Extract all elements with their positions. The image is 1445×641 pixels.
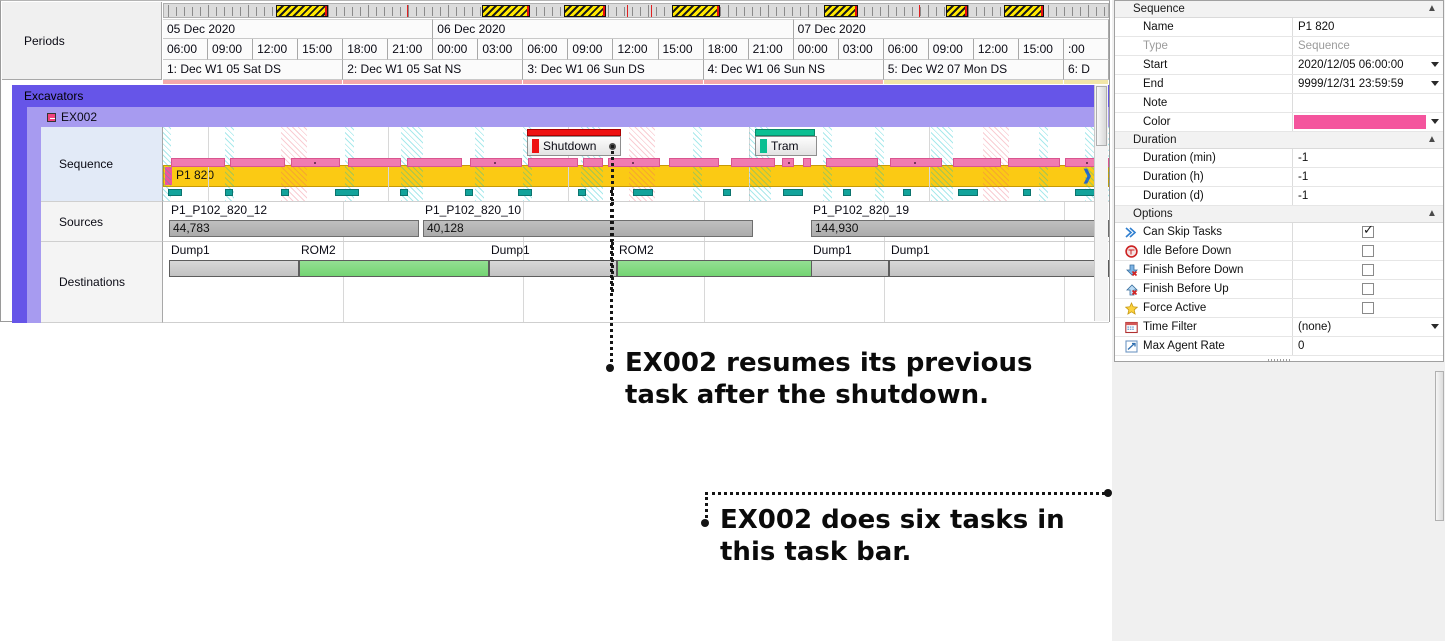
tram-event-marker[interactable] [958,189,978,196]
property-row-type: Type Sequence [1115,37,1443,56]
overview-tick [784,7,785,16]
overview-shutdown-block[interactable] [824,5,858,17]
overview-tick [792,7,793,16]
property-group-duration[interactable]: Duration ▲ [1115,132,1443,149]
overview-tick [424,7,425,16]
finish-before-up-icon [1125,283,1138,296]
chevron-down-icon[interactable] [1431,119,1439,124]
time-header-cell: 09:00 [929,39,974,60]
tram-event-marker[interactable] [843,189,851,196]
tram-color-swatch [760,139,767,153]
overview-tick [944,7,945,16]
property-row-can-skip-tasks[interactable]: Can Skip Tasks [1115,223,1443,242]
overview-tick [344,7,345,16]
tram-event-marker[interactable] [465,189,473,196]
subtask-segment[interactable] [407,158,462,167]
overview-tick [888,5,889,17]
shift-header-cell: 2: Dec W1 05 Sat NS [343,60,523,80]
property-label: End [1115,75,1293,93]
row-label-sequence: Sequence [41,127,163,202]
overview-tick [608,5,609,17]
property-label: Force Active [1143,302,1206,314]
tram-event-marker[interactable] [723,189,731,196]
checkbox-checked-icon[interactable] [1362,226,1374,238]
overview-tick [744,7,745,16]
property-value-finish-before-up[interactable] [1293,280,1443,298]
overview-tick [872,7,873,16]
time-header-cell: 12:00 [613,39,658,60]
overview-tick [336,7,337,16]
overview-tick [232,7,233,16]
property-group-sequence[interactable]: Sequence ▲ [1115,1,1443,18]
subtask-segment[interactable] [826,158,878,167]
overview-tick [392,7,393,16]
overview-tick [904,7,905,16]
destination-name: ROM2 [301,243,336,257]
property-row-duration-h[interactable]: Duration (h) -1 [1115,168,1443,187]
overview-tick [560,7,561,16]
overview-tick [736,7,737,16]
property-label: Note [1115,94,1293,112]
property-row-name[interactable]: Name P1 820 [1115,18,1443,37]
overview-marker [651,5,652,17]
overview-tick [616,7,617,16]
subtask-divider [494,162,496,164]
subtask-segment[interactable] [171,158,225,167]
tram-event-marker[interactable] [400,189,408,196]
overview-tick [408,5,409,17]
group-title: Options [1133,208,1173,220]
shift-color-strip [163,80,1109,84]
overview-tick [480,7,481,16]
tram-bar[interactable] [755,129,815,136]
grid-line [343,242,344,322]
overview-tick [200,7,201,16]
date-header-cell: 07 Dec 2020 [794,19,1109,39]
overview-tick [720,7,721,16]
callout-label: Tram [771,137,799,155]
equipment-header-ex002[interactable]: EX002 [27,107,1109,127]
destination-name: Dump1 [813,243,852,257]
subtask-segment[interactable] [803,158,811,167]
equipment-rail [27,127,41,323]
overview-tick [552,7,553,16]
time-header-cell: :00 [1064,39,1109,60]
overview-tick [936,7,937,16]
time-header-cell: 12:00 [253,39,298,60]
callout-tram[interactable]: Tram [755,136,817,156]
shutdown-color-swatch [532,139,539,153]
property-value-idle-before-down[interactable] [1293,242,1443,260]
overview-tick [464,7,465,16]
property-label: Finish Before Up [1143,283,1229,295]
equipment-label: EX002 [61,110,97,124]
time-header-cell: 03:00 [478,39,523,60]
timeline-overview-scrollbar[interactable] [163,3,1109,18]
tram-event-marker[interactable] [518,189,532,196]
overview-tick [208,5,209,17]
finish-before-down-icon [1125,264,1138,277]
destination-bar[interactable] [811,260,889,277]
overview-tick [984,7,985,16]
property-value-finish-before-down[interactable] [1293,261,1443,279]
tram-event-marker[interactable] [335,189,359,196]
callout-label: Shutdown [543,137,596,155]
destination-bar[interactable] [889,260,1109,277]
shutdown-bar[interactable] [527,129,621,136]
overview-tick [256,7,257,16]
overview-tick [1096,7,1097,16]
overview-tick [896,7,897,16]
overview-tick [1056,7,1057,16]
overview-tick [472,7,473,16]
tram-event-marker[interactable] [578,189,586,196]
app-window: Periods 05 Dec 202006 Dec 202007 Dec 202… [0,0,1445,641]
time-header-cell: 12:00 [974,39,1019,60]
panel-splitter[interactable] [1114,356,1444,364]
tram-event-marker[interactable] [225,189,233,196]
annotation-leader-dot-2-left [701,519,709,527]
subtask-segment[interactable] [230,158,285,167]
overview-tick [752,7,753,16]
subtask-segment[interactable] [953,158,1001,167]
time-header-row: 06:0009:0012:0015:0018:0021:0000:0003:00… [163,39,1109,60]
source-name: P1_P102_820_10 [425,203,521,217]
property-value-time-filter[interactable]: (none) [1293,318,1443,336]
periods-header-label: Periods [2,2,162,80]
shift-header-cell: 6: D [1064,60,1109,80]
time-header-cell: 03:00 [839,39,884,60]
property-row-force-active[interactable]: Force Active [1115,299,1443,318]
side-panel-scrollbar[interactable] [1434,369,1445,641]
subtask-segment[interactable] [470,158,522,167]
chevron-up-icon[interactable]: ▲ [1427,135,1436,144]
overview-tick [912,7,913,16]
skip-tasks-icon [1125,226,1138,239]
property-value-force-active[interactable] [1293,299,1443,317]
time-header-cell: 06:00 [163,39,208,60]
overview-tick [360,7,361,16]
property-label: Can Skip Tasks [1143,226,1222,238]
property-value-max-agent-rate[interactable]: 0 [1293,337,1443,355]
overview-tick [328,5,329,17]
time-header-cell: 15:00 [298,39,343,60]
overview-tick [648,5,649,17]
scrollbar-thumb[interactable] [1096,86,1107,146]
tram-event-marker[interactable] [281,189,289,196]
shift-header-cell: 5: Dec W2 07 Mon DS [884,60,1064,80]
subtask-divider [314,162,316,164]
overview-tick [880,7,881,16]
tram-event-marker[interactable] [903,189,911,196]
source-bar[interactable]: 40,128 [423,220,753,237]
time-header-cell: 09:00 [568,39,613,60]
property-row-color[interactable]: Color [1115,113,1443,132]
shift-color-bar [343,80,522,84]
overview-tick [248,5,249,17]
property-label: Duration (d) [1115,187,1293,205]
time-header-cell: 18:00 [343,39,388,60]
overview-tick [1000,7,1001,16]
property-label: Finish Before Down [1143,264,1243,276]
annotation-leader-dot-1 [606,364,614,372]
property-label: Duration (h) [1115,168,1293,186]
overview-tick [168,5,169,17]
property-label: Duration (min) [1115,149,1293,167]
shift-color-bar [523,80,702,84]
overview-shutdown-block[interactable] [946,5,968,17]
property-row-note[interactable]: Note [1115,94,1443,113]
overview-tick [664,7,665,16]
overview-tick [240,7,241,16]
subtask-segment[interactable] [608,158,660,167]
property-row-finish-before-up[interactable]: Finish Before Up [1115,280,1443,299]
subtask-segment[interactable] [348,158,401,167]
date-header-cell: 06 Dec 2020 [433,19,793,39]
overview-tick [456,7,457,16]
destination-bar[interactable] [299,260,489,277]
calendar-icon [1125,321,1138,334]
property-value-name[interactable]: P1 820 [1293,18,1443,36]
overview-tick [440,7,441,16]
subtask-divider [1086,162,1088,164]
annotation-text-2: EX002 does six tasks in this task bar. [720,505,1120,568]
tram-event-marker[interactable] [1023,189,1031,196]
tram-event-marker[interactable] [633,189,653,196]
checkbox-unchecked-icon[interactable] [1362,283,1374,295]
overview-tick [656,7,657,16]
destination-name: ROM2 [619,243,654,257]
group-title: Sequence [1133,3,1185,15]
star-icon [1125,302,1138,315]
property-value-duration-d[interactable]: -1 [1293,187,1443,205]
overview-tick [976,7,977,16]
tram-event-marker[interactable] [1075,189,1095,196]
chevron-up-icon[interactable]: ▲ [1427,4,1436,13]
shift-header-cell: 4: Dec W1 06 Sun NS [704,60,884,80]
property-value-duration-h[interactable]: -1 [1293,168,1443,186]
lane-sequence[interactable]: P1 820 ❱❱ ShutdownTram [163,127,1109,202]
property-row-end[interactable]: End 9999/12/31 23:59:59 [1115,75,1443,94]
property-label: Type [1115,37,1293,55]
annotation-leader-line-2h [705,492,1111,495]
subtask-segment[interactable] [782,158,794,167]
overview-tick [728,5,729,17]
scrollbar-thumb[interactable] [1435,371,1444,521]
property-value-start[interactable]: 2020/12/05 06:00:00 [1293,56,1443,74]
overview-tick [536,7,537,16]
overview-tick [920,7,921,16]
overview-tick [1104,7,1105,16]
overview-tick [176,7,177,16]
idle-before-down-icon [1125,245,1138,258]
time-header-cell: 06:00 [884,39,929,60]
collapse-expander-icon[interactable] [47,113,56,122]
overview-tick [1048,5,1049,17]
date-header-row: 05 Dec 202006 Dec 202007 Dec 2020 [163,19,1109,39]
overview-tick [632,7,633,16]
overview-shutdown-block[interactable] [276,5,328,17]
property-value-can-skip-tasks[interactable] [1293,223,1443,241]
overview-tick [776,7,777,16]
source-bar[interactable]: 44,783 [169,220,419,237]
overview-tick [768,5,769,17]
checkbox-unchecked-icon[interactable] [1362,245,1374,257]
grid-line [704,242,705,322]
subtask-segment[interactable] [669,158,719,167]
gantt-chart-panel: Periods 05 Dec 202006 Dec 202007 Dec 202… [0,0,1110,322]
property-value-color[interactable] [1293,113,1443,131]
annotation-leader-dot-2-right [1104,489,1112,497]
lane-destinations[interactable]: Dump1ROM2Dump1ROM2Dump1Dump1 [163,242,1109,323]
time-header-cell: 15:00 [659,39,704,60]
source-bar[interactable]: 144,930 [811,220,1109,237]
property-value-note[interactable] [1293,94,1443,112]
group-rail [12,107,27,323]
destination-bar[interactable] [169,260,299,277]
time-header-cell: 00:00 [794,39,839,60]
shift-header-row: 1: Dec W1 05 Sat DS2: Dec W1 05 Sat NS3:… [163,60,1109,80]
chevron-down-icon[interactable] [1431,62,1439,67]
property-grid: Sequence ▲ Name P1 820 Type Sequence Sta… [1114,0,1444,362]
overview-tick [1064,7,1065,16]
overview-tick [640,7,641,16]
shift-header-cell: 3: Dec W1 06 Sun DS [523,60,703,80]
subtask-segment[interactable] [583,158,603,167]
tram-event-marker[interactable] [168,189,182,196]
overview-tick [432,7,433,16]
property-row-start[interactable]: Start 2020/12/05 06:00:00 [1115,56,1443,75]
date-header-cell: 05 Dec 2020 [163,19,433,39]
overview-tick [864,7,865,16]
destination-bar[interactable] [617,260,813,277]
overview-tick [216,7,217,16]
gantt-vertical-scrollbar[interactable] [1094,85,1108,321]
shift-color-bar [163,80,342,84]
overview-shutdown-block[interactable] [482,5,530,17]
overview-tick [816,7,817,16]
time-header-cell: 06:00 [523,39,568,60]
overview-shutdown-block[interactable] [672,5,720,17]
group-header-excavators[interactable]: Excavators [12,85,1109,107]
property-row-duration-d[interactable]: Duration (d) -1 [1115,187,1443,206]
subtask-segment[interactable] [731,158,775,167]
overview-tick [544,7,545,16]
property-label: Start [1115,56,1293,74]
grid-line [1064,242,1065,322]
subtask-segment[interactable] [528,158,578,167]
overview-tick [192,7,193,16]
source-name: P1_P102_820_19 [813,203,909,217]
overview-tick [760,7,761,16]
property-value-end[interactable]: 9999/12/31 23:59:59 [1293,75,1443,93]
time-header-cell: 21:00 [388,39,433,60]
subtask-segment[interactable] [1008,158,1060,167]
checkbox-unchecked-icon[interactable] [1362,264,1374,276]
splitter-grip-icon [1268,359,1290,362]
overview-tick [992,7,993,16]
overview-tick [1088,5,1089,17]
property-group-options[interactable]: Options ▲ [1115,206,1443,223]
callout-shutdown[interactable]: Shutdown [527,136,621,156]
checkbox-unchecked-icon[interactable] [1362,302,1374,314]
time-header-cell: 15:00 [1019,39,1064,60]
time-header-cell: 00:00 [433,39,478,60]
row-label-destinations: Destinations [41,242,163,323]
overview-tick [352,7,353,16]
subtask-divider [632,162,634,164]
overview-tick [264,7,265,16]
property-label: Max Agent Rate [1143,340,1225,352]
property-label: Time Filter [1143,321,1197,333]
overview-tick [968,5,969,17]
overview-tick [184,7,185,16]
subtask-divider [788,162,790,164]
overview-tick [368,5,369,17]
annotation-text-1: EX002 resumes its previous task after th… [625,348,1075,411]
overview-tick [272,7,273,16]
property-value-duration-min[interactable]: -1 [1293,149,1443,167]
property-label: Name [1115,18,1293,36]
overview-tick [384,7,385,16]
overview-tick [376,7,377,16]
overview-tick [1072,7,1073,16]
shift-header-cell: 1: Dec W1 05 Sat DS [163,60,343,80]
property-row-duration-min[interactable]: Duration (min) -1 [1115,149,1443,168]
time-header-cell: 21:00 [749,39,794,60]
overview-tick [416,7,417,16]
overview-marker [919,5,920,17]
tram-event-marker[interactable] [783,189,803,196]
source-name: P1_P102_820_12 [171,203,267,217]
color-swatch[interactable] [1294,115,1426,129]
property-label: Color [1115,113,1293,131]
shift-color-bar [1064,80,1108,84]
destination-name: Dump1 [171,243,210,257]
overview-shutdown-block[interactable] [1004,5,1044,17]
shift-color-bar [884,80,1063,84]
overview-tick [448,5,449,17]
time-header-cell: 09:00 [208,39,253,60]
overview-marker [407,5,408,17]
chevron-down-icon[interactable] [1431,81,1439,86]
shift-color-bar [704,80,883,84]
destination-bar[interactable] [489,260,617,277]
subtask-segment[interactable] [291,158,340,167]
property-row-finish-before-down[interactable]: Finish Before Down [1115,261,1443,280]
property-row-max-agent-rate[interactable]: Max Agent Rate 0 [1115,337,1443,356]
subtask-segment[interactable] [890,158,942,167]
property-row-time-filter[interactable]: Time Filter (none) [1115,318,1443,337]
chevron-down-icon[interactable] [1431,324,1439,329]
overview-marker [627,5,628,17]
property-label: Idle Before Down [1143,245,1231,257]
destination-name: Dump1 [491,243,530,257]
property-row-idle-before-down[interactable]: Idle Before Down [1115,242,1443,261]
overview-shutdown-block[interactable] [564,5,606,17]
destination-name: Dump1 [891,243,930,257]
row-label-sources: Sources [41,202,163,242]
annotation-leader-line-1 [610,190,613,368]
gauge-icon [1125,340,1138,353]
overview-tick [400,7,401,16]
lane-sources[interactable]: P1_P102_820_1244,783P1_P102_820_1040,128… [163,202,1109,242]
subtask-divider [914,162,916,164]
right-side-panel: Sequence ▲ Name P1 820 Type Sequence Sta… [1112,0,1445,641]
chevron-up-icon[interactable]: ▲ [1427,209,1436,218]
overview-tick [1080,7,1081,16]
overview-tick [224,7,225,16]
